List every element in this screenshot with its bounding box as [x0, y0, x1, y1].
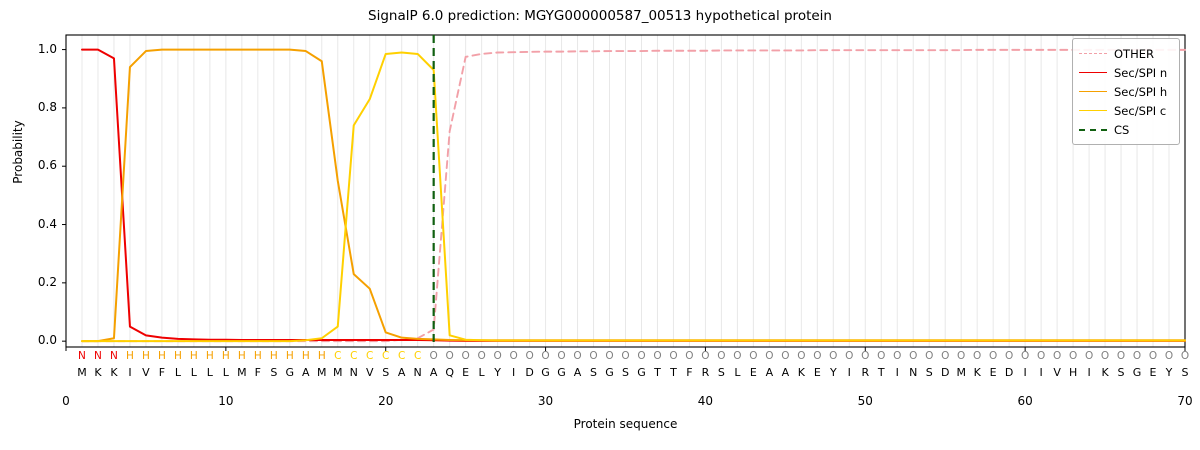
y-tick-label: 0.8 — [13, 100, 57, 114]
legend-label-sec-spi-n: Sec/SPI n — [1114, 66, 1167, 80]
x-tick-label: 50 — [845, 394, 885, 408]
y-tick-label: 0.2 — [13, 275, 57, 289]
x-tick-label: 0 — [46, 394, 86, 408]
legend-swatch-sec-spi-n — [1079, 67, 1107, 79]
legend-label-cs: CS — [1114, 123, 1129, 137]
legend-label-other: OTHER — [1114, 47, 1154, 61]
legend-item-other: OTHER — [1079, 44, 1173, 63]
x-tick-label: 10 — [206, 394, 246, 408]
legend-item-sec-spi-c: Sec/SPI c — [1079, 101, 1173, 120]
legend: OTHER Sec/SPI n Sec/SPI h Sec/SPI c CS — [1072, 38, 1180, 145]
sequence-region-letter: O — [1175, 350, 1195, 362]
legend-swatch-sec-spi-c — [1079, 105, 1107, 117]
x-tick-label: 30 — [526, 394, 566, 408]
legend-item-cs: CS — [1079, 120, 1173, 139]
y-tick-label: 0.6 — [13, 158, 57, 172]
legend-item-sec-spi-n: Sec/SPI n — [1079, 63, 1173, 82]
legend-label-sec-spi-c: Sec/SPI c — [1114, 104, 1166, 118]
y-tick-label: 1.0 — [13, 42, 57, 56]
signalp-prediction-figure: SignalP 6.0 prediction: MGYG000000587_00… — [0, 0, 1200, 450]
y-tick-label: 0.4 — [13, 217, 57, 231]
plot-canvas — [0, 0, 1200, 450]
legend-swatch-other — [1079, 48, 1107, 60]
y-tick-label: 0.0 — [13, 333, 57, 347]
x-tick-label: 20 — [366, 394, 406, 408]
legend-label-sec-spi-h: Sec/SPI h — [1114, 85, 1167, 99]
x-tick-label: 40 — [685, 394, 725, 408]
legend-item-sec-spi-h: Sec/SPI h — [1079, 82, 1173, 101]
sequence-residue: S — [1175, 366, 1195, 379]
series-other — [82, 50, 1185, 341]
x-tick-label: 60 — [1005, 394, 1045, 408]
series-sec-spi-n — [82, 50, 1185, 341]
x-tick-label: 70 — [1165, 394, 1200, 408]
series-sec-spi-h — [82, 50, 1185, 342]
legend-swatch-cs — [1079, 124, 1107, 136]
legend-swatch-sec-spi-h — [1079, 86, 1107, 98]
series-sec-spi-c — [82, 53, 1185, 342]
